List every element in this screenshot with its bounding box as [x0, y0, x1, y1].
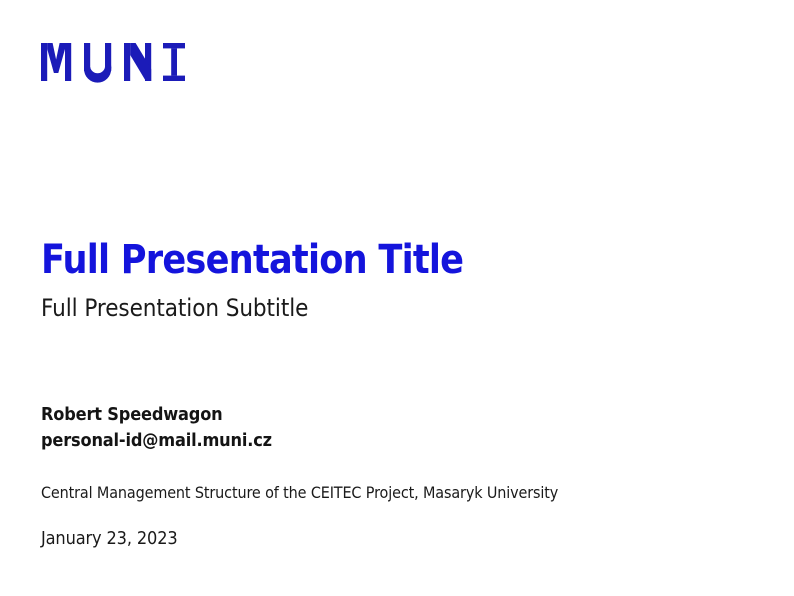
author-affiliation: Central Management Structure of the CEIT… — [41, 483, 558, 502]
author-block: Robert Speedwagon personal-id@mail.muni.… — [41, 402, 741, 453]
presentation-subtitle: Full Presentation Subtitle — [41, 282, 671, 323]
author-name: Robert Speedwagon — [41, 402, 671, 428]
muni-logo — [41, 43, 191, 83]
presentation-date: January 23, 2023 — [41, 528, 178, 550]
presentation-title: Full Presentation Title — [41, 239, 657, 282]
title-block: Full Presentation Title Full Presentatio… — [41, 239, 741, 323]
muni-logo-svg — [41, 43, 191, 83]
author-email: personal-id@mail.muni.cz — [41, 428, 671, 454]
presentation-title-slide: Full Presentation Title Full Presentatio… — [0, 0, 794, 596]
